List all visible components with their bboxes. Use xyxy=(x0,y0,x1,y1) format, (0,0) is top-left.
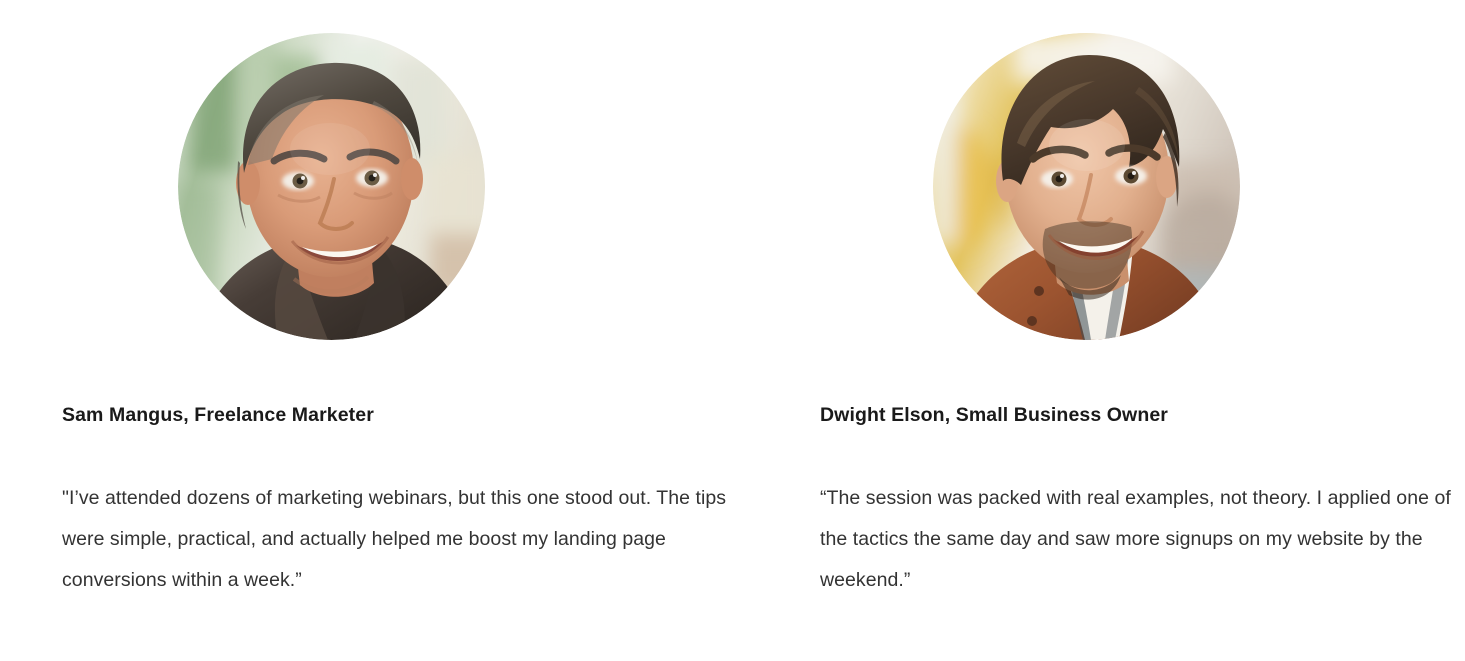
avatar xyxy=(178,33,485,340)
avatar xyxy=(933,33,1240,340)
avatar-photo-sam-mangus xyxy=(178,33,485,340)
testimonial-card: Sam Mangus, Freelance Marketer "I’ve att… xyxy=(62,0,762,661)
avatar-photo-dwight-elson xyxy=(933,33,1240,340)
testimonial-card: Dwight Elson, Small Business Owner “The … xyxy=(820,0,1465,661)
testimonials-section: Sam Mangus, Freelance Marketer "I’ve att… xyxy=(0,0,1465,661)
testimonial-quote: “The session was packed with real exampl… xyxy=(820,478,1465,601)
person-name: Dwight Elson, Small Business Owner xyxy=(820,401,1168,429)
person-name: Sam Mangus, Freelance Marketer xyxy=(62,401,374,429)
testimonial-quote: "I’ve attended dozens of marketing webin… xyxy=(62,478,752,601)
